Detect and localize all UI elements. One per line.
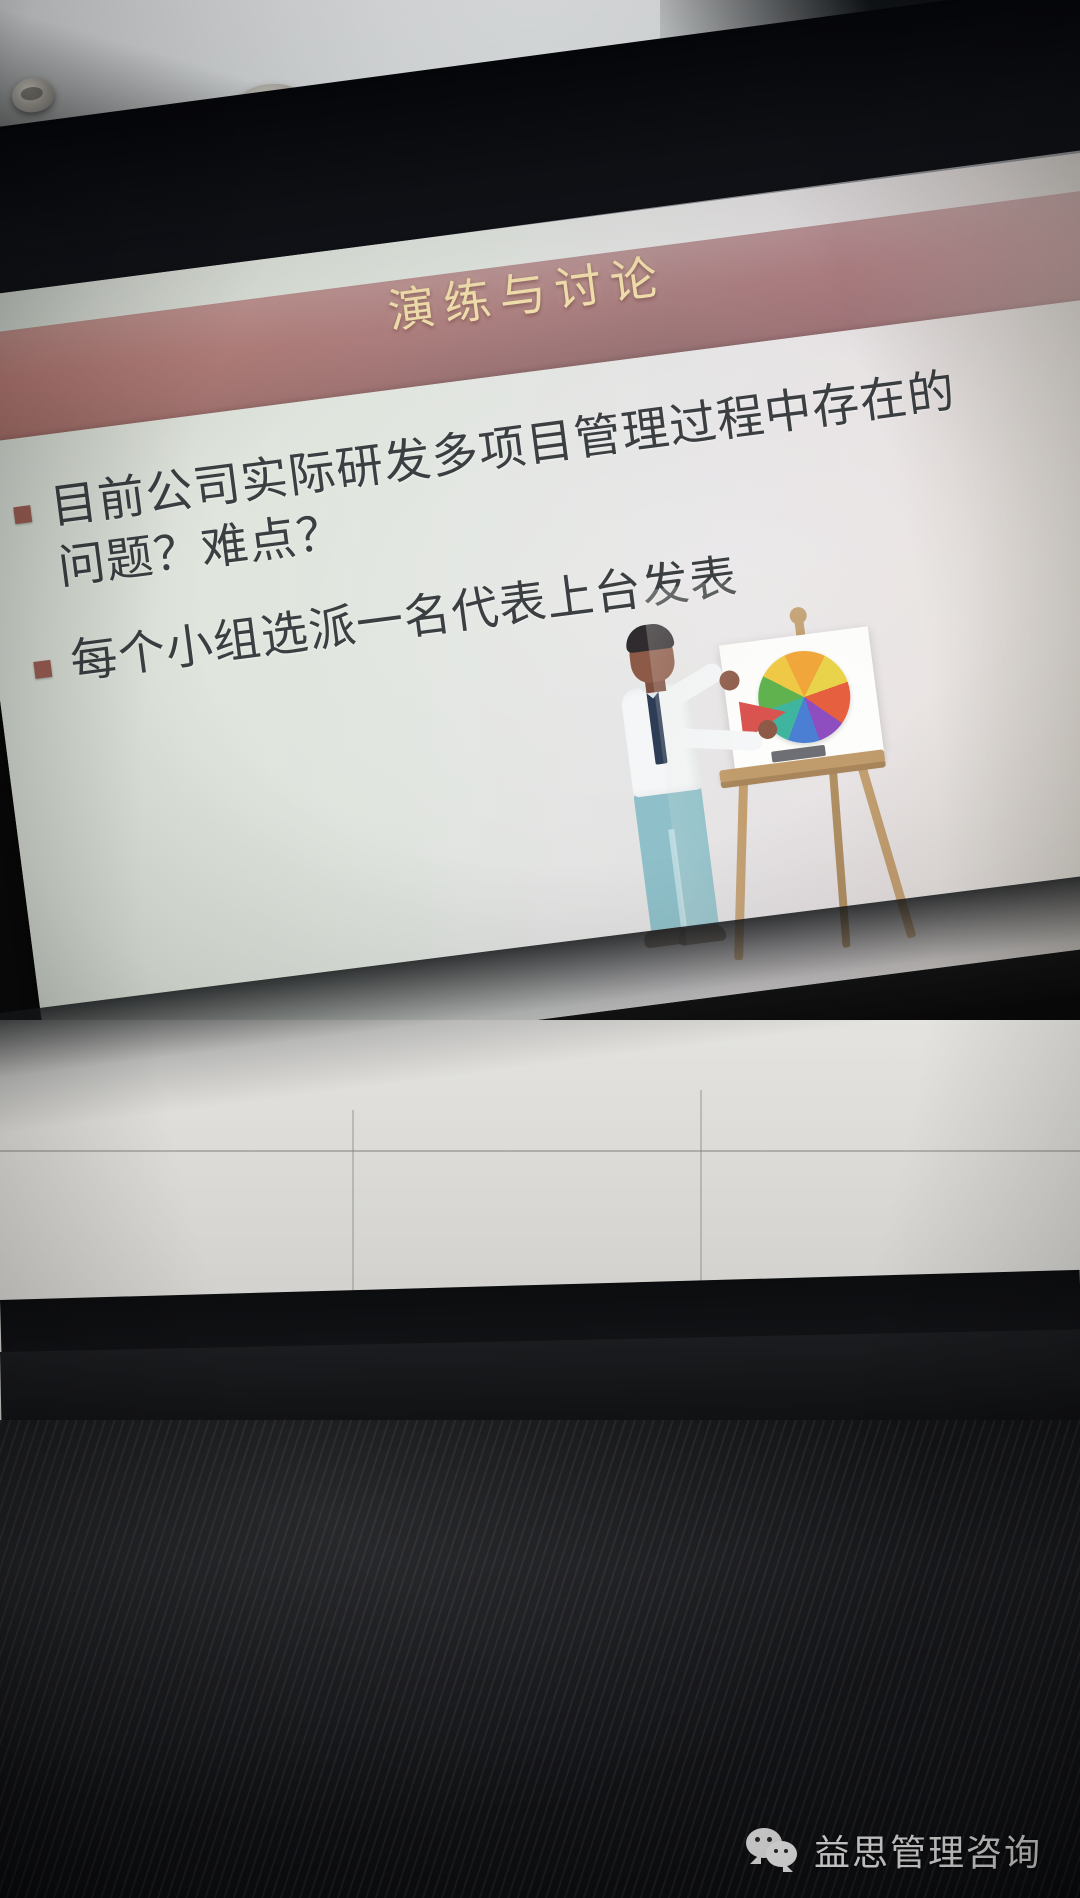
watermark-label: 益思管理咨询 xyxy=(814,1824,1042,1876)
wechat-icon xyxy=(746,1828,800,1872)
photo-canvas: 演练与讨论 目前公司实际研发多项目管理过程中存在的问题？难点？ 每个小组选派一名… xyxy=(0,0,1080,1898)
wall-seam-vertical xyxy=(700,1090,702,1310)
wall-seam xyxy=(0,1150,1080,1152)
watermark: 益思管理咨询 xyxy=(746,1824,1042,1876)
wall-seam-vertical xyxy=(352,1110,354,1310)
